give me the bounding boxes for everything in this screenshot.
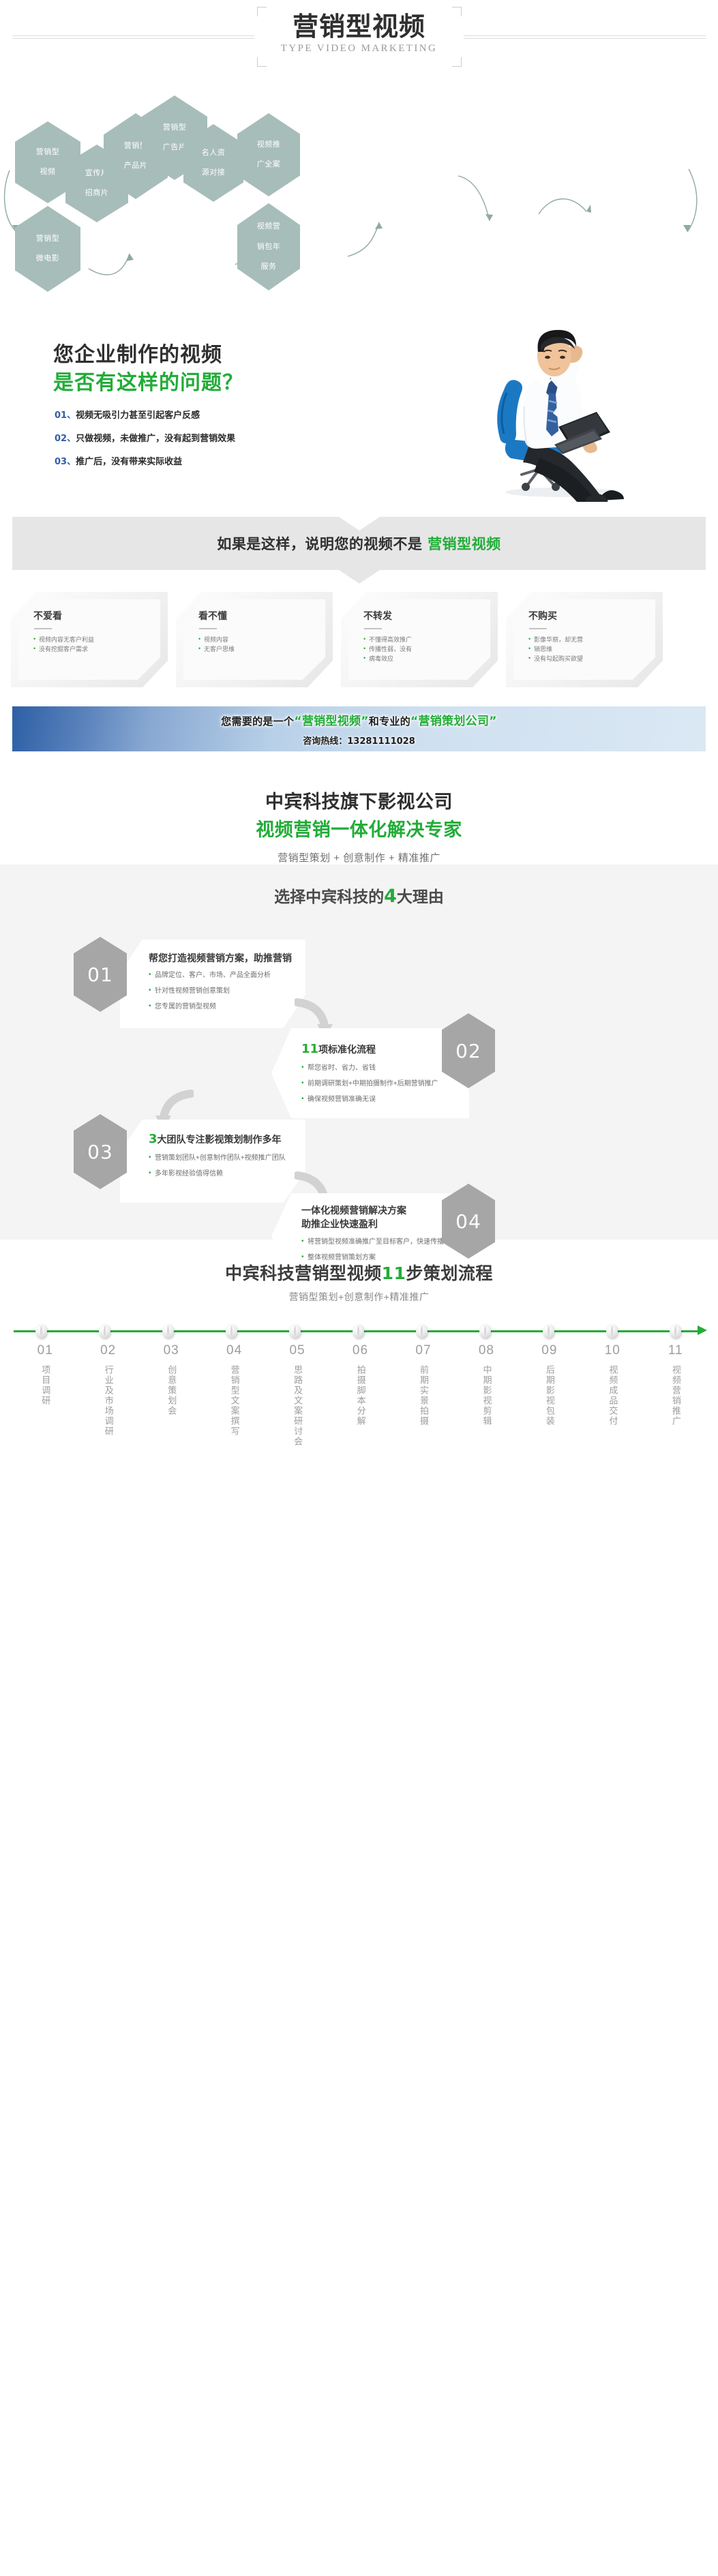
steps-section: 中宾科技营销型视频11步策划流程 营销型策划+创意制作+精准推广 01 项目调研 — [0, 1240, 718, 1526]
problem-list-item: 03、推广后，没有带来实际收益 — [55, 454, 235, 467]
marketing-video-landing-page: 营销型视频 TYPE VIDEO MARKETING — [0, 0, 718, 2576]
reasons-title-number: 4 — [384, 886, 397, 907]
corner-bracket-icon — [257, 7, 267, 16]
timeline-dot — [670, 1324, 681, 1338]
problem-card-bullet: 不懂得高效推广 — [363, 635, 479, 645]
company-name: 中宾科技旗下影视公司 — [0, 787, 718, 813]
timeline-dot — [35, 1324, 47, 1338]
reason-title-tail: 项标准化流程 — [318, 1045, 376, 1055]
step-item[interactable]: 07 前期实景拍摄 — [392, 1343, 455, 1450]
hex-label: 营销型视频 — [36, 147, 60, 178]
steps-subtitle: 营销型策划+创意制作+精准推广 — [0, 1290, 718, 1304]
businessman-on-chair-illustration — [459, 325, 643, 502]
reason-number-badge-03: 03 — [74, 1114, 127, 1189]
problem-item-number: 02、 — [55, 434, 76, 444]
step-number: 09 — [518, 1343, 581, 1358]
timeline-dot — [99, 1324, 110, 1338]
blue-banner-section: 您需要的是一个“营销型视频”和专业的“营销策划公司” 咨询热线：13281111… — [0, 695, 718, 777]
corner-bracket-icon — [452, 7, 462, 16]
hex-label: 营销型广告片 — [163, 123, 187, 153]
page-header: 营销型视频 TYPE VIDEO MARKETING — [0, 0, 718, 95]
step-label: 项目调研 — [38, 1365, 52, 1406]
problem-item-text: 推广后，没有带来实际收益 — [76, 456, 182, 466]
reason-number: 01 — [87, 963, 113, 986]
reason-title-tail: 大团队专注影视策划制作多年 — [158, 1135, 282, 1145]
timeline-dot — [226, 1324, 237, 1338]
reason-bullet: 多年影视经验值得信赖 — [149, 1169, 296, 1180]
step-item[interactable]: 09 后期影视包装 — [518, 1343, 581, 1450]
page-subtitle: TYPE VIDEO MARKETING — [257, 43, 462, 55]
problem-card-title: 不爱看 — [33, 609, 149, 623]
problem-item-number: 01、 — [55, 410, 76, 421]
banner-notch-bottom-icon — [339, 570, 380, 584]
reason-card-title: 帮您打造视频营销方案，助推营销 — [149, 952, 296, 965]
reason-title-accent: 11 — [301, 1042, 318, 1056]
step-item[interactable]: 04 营销型文案撰写 — [203, 1343, 265, 1450]
reason-card-title: 11项标准化流程 — [301, 1040, 460, 1058]
step-number: 03 — [140, 1343, 203, 1358]
header-title-box: 营销型视频 TYPE VIDEO MARKETING — [257, 7, 462, 67]
problem-card-bullet: 传播性弱，没有 — [363, 645, 479, 655]
header-rule-left-2 — [12, 38, 254, 39]
step-item[interactable]: 03 创意策划会 — [140, 1343, 203, 1450]
step-item[interactable]: 05 思路及文案研讨会 — [266, 1343, 329, 1450]
timeline-dot — [353, 1324, 364, 1338]
service-hexagon-cluster: 营销型视频 宣传片招商片 营销型产品片 营销型广告片 名人资源对接 视频推广全案… — [0, 95, 718, 320]
header-rule-right-2 — [464, 38, 706, 39]
problem-card-title: 不转发 — [363, 609, 479, 623]
grey-banner-accent: 营销型视频 — [428, 536, 501, 552]
reason-number: 02 — [455, 1040, 481, 1062]
reason-card-body: 11项标准化流程 帮您省时、省力、省钱 前期调研策划+中期拍摄制作+后期营销推广… — [271, 1028, 469, 1118]
hex-annual-service[interactable]: 视频营销包年服务 — [237, 203, 300, 290]
reason-number: 04 — [455, 1210, 481, 1233]
reason-bullet: 品牌定位、客户、市场、产品全面分析 — [149, 970, 296, 981]
problem-item-text: 只做视频，未做推广，没有起到营销效果 — [76, 433, 235, 443]
problem-list-item: 01、视频无吸引力甚至引起客户反感 — [55, 408, 235, 421]
divider — [199, 628, 217, 629]
reason-bullet: 您专属的营销型视频 — [149, 1002, 296, 1013]
blue-banner-l1a: 您需要的是一个 — [221, 715, 294, 728]
reason-bullet: 确保视频营销准确无误 — [301, 1094, 460, 1105]
problem-card-bullet: 视频内容 — [198, 635, 314, 645]
hex-micro-film[interactable]: 营销型微电影 — [15, 206, 80, 292]
step-label: 思路及文案研讨会 — [290, 1365, 304, 1447]
step-number: 02 — [76, 1343, 139, 1358]
reason-bullet: 前期调研策划+中期拍摄制作+后期营销推广 — [301, 1079, 460, 1090]
reasons-section: 选择中宾科技的4大理由 帮您打造视频营销方案，助推营销 品牌定位、客户、市场、产… — [0, 865, 718, 1240]
step-item[interactable]: 01 项目调研 — [14, 1343, 76, 1450]
divider — [34, 628, 52, 629]
step-number: 06 — [329, 1343, 391, 1358]
hex-label: 视频营销包年服务 — [257, 222, 281, 272]
hex-label: 视频推广全案 — [257, 140, 281, 170]
reason-title-plain: 帮您打造视频营销方案，助推营销 — [149, 953, 292, 964]
corner-bracket-icon — [257, 57, 267, 67]
steps-title-number: 11 — [382, 1263, 406, 1283]
reason-bullet: 营销策划团队+创意制作团队+视频推广团队 — [149, 1153, 296, 1164]
blue-banner: 您需要的是一个“营销型视频”和专业的“营销策划公司” 咨询热线：13281111… — [12, 706, 706, 751]
problem-card-bullet-cont: 销思维 — [528, 645, 644, 655]
reason-bullet: 针对性视频营销创意策划 — [149, 986, 296, 997]
hotline-text: 咨询热线：13281111028 — [303, 734, 415, 747]
problem-card[interactable]: 看不懂 视频内容 无客户思维 — [176, 592, 333, 687]
step-label: 视频营销推广 — [669, 1365, 683, 1426]
header-rule-left — [12, 35, 254, 36]
company-slogan: 视频营销一体化解决专家 — [0, 815, 718, 841]
corner-bracket-icon — [452, 57, 462, 67]
step-number: 04 — [203, 1343, 265, 1358]
timeline-dot — [416, 1324, 428, 1338]
reason-title-plain: 一体化视频营销解决方案 — [301, 1205, 406, 1216]
timeline-dot — [479, 1324, 491, 1338]
divider — [529, 628, 547, 629]
step-label: 后期影视包装 — [543, 1365, 556, 1426]
problem-card-inner: 不购买 影像华丽，却无营 销思维 没有勾起购买欲望 — [513, 599, 655, 680]
step-label: 拍摄脚本分解 — [353, 1365, 367, 1426]
step-number: 01 — [14, 1343, 76, 1358]
problem-card-bullet: 无客户思维 — [198, 645, 314, 655]
problem-card-inner: 不爱看 视频内容无客户利益 没有挖掘客户需求 — [18, 599, 160, 680]
timeline-dot — [289, 1324, 301, 1338]
problem-item-text: 视频无吸引力甚至引起客户反感 — [76, 410, 200, 420]
problem-card-bullet-cont: 病毒效应 — [363, 655, 479, 664]
header-rule-right — [464, 35, 706, 36]
step-item[interactable]: 02 行业及市场调研 — [76, 1343, 139, 1450]
blue-banner-l1d: “营销策划公司” — [410, 715, 497, 728]
steps-title-b: 步策划流程 — [406, 1263, 493, 1283]
company-intro-section: 中宾科技旗下影视公司 视频营销一体化解决专家 营销型策划 + 创意制作 + 精准… — [0, 777, 718, 865]
reasons-title: 选择中宾科技的4大理由 — [0, 865, 718, 907]
reason-title-tail: 助推企业快速盈利 — [301, 1219, 378, 1230]
step-label: 行业及市场调研 — [102, 1365, 115, 1437]
divider — [364, 628, 382, 629]
problem-list-item: 02、只做视频，未做推广，没有起到营销效果 — [55, 431, 235, 444]
step-item[interactable]: 06 拍摄脚本分解 — [329, 1343, 391, 1450]
reason-title-accent: 3 — [149, 1132, 158, 1146]
step-item[interactable]: 11 视频营销推广 — [644, 1343, 707, 1450]
timeline-arrow-icon — [698, 1326, 707, 1335]
problem-card-title: 不购买 — [528, 609, 644, 623]
problem-card[interactable]: 不购买 影像华丽，却无营 销思维 没有勾起购买欲望 — [506, 592, 663, 687]
timeline-dot — [162, 1324, 174, 1338]
grey-banner-plain: 如果是这样，说明您的视频不是 — [217, 536, 428, 552]
reason-card-title: 3大团队专注影视策划制作多年 — [149, 1130, 296, 1148]
problem-heading-line2: 是否有这样的问题？ — [53, 365, 243, 395]
reasons-title-b: 大理由 — [397, 888, 444, 906]
reason-bullet: 帮您省时、省力、省钱 — [301, 1063, 460, 1074]
steps-title: 中宾科技营销型视频11步策划流程 — [0, 1240, 718, 1285]
problem-section: 您企业制作的视频 是否有这样的问题？ 01、视频无吸引力甚至引起客户反感 02、… — [0, 320, 718, 505]
blue-banner-line1: 您需要的是一个“营销型视频”和专业的“营销策划公司” — [221, 711, 497, 728]
problem-heading-line1: 您企业制作的视频 — [53, 338, 222, 368]
reason-card-body: 帮您打造视频营销方案，助推营销 品牌定位、客户、市场、产品全面分析 针对性视频营… — [120, 940, 305, 1028]
blue-banner-l1b: “营销型视频” — [294, 715, 368, 728]
step-label: 视频成品交付 — [605, 1365, 619, 1426]
steps-columns: 01 项目调研 02 行业及市场调研 03 创意策划会 04 营销型文案撰写 0… — [14, 1343, 707, 1450]
reason-number-badge-01: 01 — [74, 937, 127, 1012]
step-number: 11 — [644, 1343, 707, 1358]
steps-title-a: 中宾科技营销型视频 — [225, 1263, 382, 1283]
problem-cards-section: 不爱看 视频内容无客户利益 没有挖掘客户需求 看不懂 视频内容 无客户思维 不转… — [0, 586, 718, 695]
step-number: 07 — [392, 1343, 455, 1358]
hex-label: 营销型微电影 — [36, 234, 60, 265]
timeline-dot — [606, 1324, 618, 1338]
step-label: 中期影视剪辑 — [479, 1365, 493, 1426]
problem-card-bullet: 影像华丽，却无营 — [528, 635, 644, 645]
page-title: 营销型视频 — [257, 7, 462, 42]
reason-card-title: 一体化视频营销解决方案助推企业快速盈利 — [301, 1204, 460, 1232]
step-label: 营销型文案撰写 — [228, 1365, 241, 1437]
step-number: 08 — [455, 1343, 518, 1358]
timeline-dot — [543, 1324, 554, 1338]
hex-video-promo-plan[interactable]: 视频推广全案 — [237, 113, 300, 196]
problem-card-inner: 看不懂 视频内容 无客户思维 — [183, 599, 325, 680]
grey-banner-text: 如果是这样，说明您的视频不是 营销型视频 — [217, 533, 500, 554]
problem-card[interactable]: 不爱看 视频内容无客户利益 没有挖掘客户需求 — [11, 592, 168, 687]
reason-card-body: 3大团队专注影视策划制作多年 营销策划团队+创意制作团队+视频推广团队 多年影视… — [120, 1120, 305, 1203]
problem-card-title: 看不懂 — [198, 609, 314, 623]
grey-banner-section: 如果是这样，说明您的视频不是 营销型视频 — [0, 505, 718, 586]
step-label: 前期实景拍摄 — [417, 1365, 430, 1426]
problem-item-number: 03、 — [55, 457, 76, 467]
blue-banner-l1c: 和专业的 — [369, 715, 410, 728]
banner-notch-top-icon — [339, 517, 380, 530]
problem-card-inner: 不转发 不懂得高效推广 传播性弱，没有 病毒效应 — [348, 599, 490, 680]
step-item[interactable]: 10 视频成品交付 — [581, 1343, 644, 1450]
problem-card-bullet: 没有勾起购买欲望 — [528, 655, 644, 664]
step-number: 10 — [581, 1343, 644, 1358]
reason-number: 03 — [87, 1141, 113, 1163]
hex-label: 名人资源对接 — [202, 148, 226, 179]
problem-card-bullet: 视频内容无客户利益 — [33, 635, 149, 645]
problem-card[interactable]: 不转发 不懂得高效推广 传播性弱，没有 病毒效应 — [341, 592, 498, 687]
steps-timeline — [14, 1324, 707, 1338]
company-services: 营销型策划 + 创意制作 + 精准推广 — [0, 850, 718, 865]
problem-card-bullet: 没有挖掘客户需求 — [33, 645, 149, 655]
step-item[interactable]: 08 中期影视剪辑 — [455, 1343, 518, 1450]
step-label: 创意策划会 — [164, 1365, 178, 1416]
step-number: 05 — [266, 1343, 329, 1358]
reasons-title-a: 选择中宾科技的 — [274, 888, 384, 906]
problem-list: 01、视频无吸引力甚至引起客户反感 02、只做视频，未做推广，没有起到营销效果 … — [55, 408, 235, 477]
